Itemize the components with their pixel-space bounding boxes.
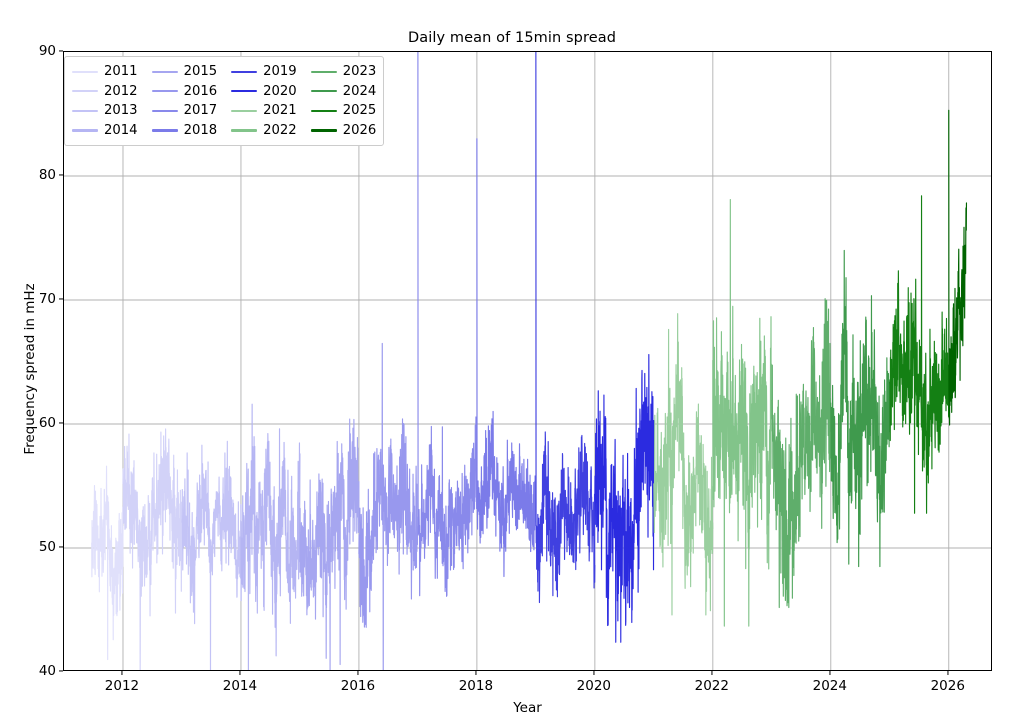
legend[interactable]: 2011201220132014201520162017201820192020… bbox=[64, 56, 384, 146]
legend-swatch-2024 bbox=[311, 90, 337, 92]
y-tick-label: 40 bbox=[0, 663, 56, 679]
y-tick-mark bbox=[59, 50, 63, 51]
legend-swatch-2021 bbox=[231, 110, 257, 112]
x-tick-mark bbox=[829, 671, 830, 675]
y-axis-label: Frequency spread in mHz bbox=[22, 209, 38, 529]
legend-label-2012: 2012 bbox=[104, 85, 138, 98]
chart-title: Daily mean of 15min spread bbox=[0, 30, 1024, 46]
series-line-2019 bbox=[536, 52, 595, 603]
legend-label-2017: 2017 bbox=[184, 104, 218, 117]
series-line-2025 bbox=[890, 196, 949, 513]
legend-entry-2026[interactable]: 2026 bbox=[311, 121, 377, 141]
legend-swatch-2019 bbox=[231, 71, 257, 73]
legend-label-2014: 2014 bbox=[104, 124, 138, 137]
legend-entry-2024[interactable]: 2024 bbox=[311, 82, 377, 102]
legend-label-2020: 2020 bbox=[263, 85, 297, 98]
legend-swatch-2015 bbox=[152, 71, 178, 73]
legend-swatch-2017 bbox=[152, 110, 178, 112]
legend-label-2025: 2025 bbox=[343, 104, 377, 117]
x-tick-mark bbox=[121, 671, 122, 675]
series-line-2026 bbox=[949, 110, 967, 425]
legend-entry-2012[interactable]: 2012 bbox=[72, 82, 138, 102]
legend-label-2015: 2015 bbox=[184, 65, 218, 78]
legend-swatch-2014 bbox=[72, 129, 98, 131]
legend-label-2023: 2023 bbox=[343, 65, 377, 78]
legend-swatch-2022 bbox=[231, 129, 257, 131]
legend-label-2024: 2024 bbox=[343, 85, 377, 98]
series-line-2022 bbox=[713, 200, 772, 627]
legend-swatch-2016 bbox=[152, 90, 178, 92]
y-tick-mark bbox=[59, 298, 63, 299]
series-line-2017 bbox=[418, 52, 477, 596]
legend-entry-2015[interactable]: 2015 bbox=[152, 62, 218, 82]
series-line-2021 bbox=[654, 314, 713, 615]
legend-entry-2019[interactable]: 2019 bbox=[231, 62, 297, 82]
x-tick-mark bbox=[593, 671, 594, 675]
x-tick-label: 2020 bbox=[577, 678, 611, 694]
legend-swatch-2026 bbox=[311, 129, 337, 131]
series-line-2011 bbox=[92, 466, 123, 659]
x-tick-mark bbox=[357, 671, 358, 675]
legend-swatch-2023 bbox=[311, 71, 337, 73]
y-tick-mark bbox=[59, 670, 63, 671]
legend-label-2022: 2022 bbox=[263, 124, 297, 137]
x-tick-label: 2018 bbox=[459, 678, 493, 694]
legend-label-2016: 2016 bbox=[184, 85, 218, 98]
figure-canvas: Daily mean of 15min spread 405060708090 … bbox=[0, 0, 1024, 721]
x-tick-label: 2012 bbox=[105, 678, 139, 694]
x-tick-mark bbox=[947, 671, 948, 675]
series-line-2014 bbox=[241, 404, 300, 671]
legend-entry-2021[interactable]: 2021 bbox=[231, 101, 297, 121]
legend-label-2018: 2018 bbox=[184, 124, 218, 137]
series-line-2024 bbox=[831, 250, 890, 566]
legend-entry-2011[interactable]: 2011 bbox=[72, 62, 138, 82]
legend-entry-2014[interactable]: 2014 bbox=[72, 121, 138, 141]
legend-entry-2016[interactable]: 2016 bbox=[152, 82, 218, 102]
legend-entry-2017[interactable]: 2017 bbox=[152, 101, 218, 121]
x-tick-mark bbox=[475, 671, 476, 675]
legend-label-2021: 2021 bbox=[263, 104, 297, 117]
legend-swatch-2018 bbox=[152, 129, 178, 131]
series-line-2016 bbox=[359, 343, 418, 671]
legend-entry-2022[interactable]: 2022 bbox=[231, 121, 297, 141]
x-tick-label: 2026 bbox=[931, 678, 965, 694]
series-line-2023 bbox=[772, 299, 831, 608]
y-tick-mark bbox=[59, 174, 63, 175]
legend-swatch-2013 bbox=[72, 110, 98, 112]
x-tick-label: 2022 bbox=[695, 678, 729, 694]
legend-label-2026: 2026 bbox=[343, 124, 377, 137]
legend-swatch-2012 bbox=[72, 90, 98, 92]
legend-entry-2025[interactable]: 2025 bbox=[311, 101, 377, 121]
legend-label-2011: 2011 bbox=[104, 65, 138, 78]
series-line-2012 bbox=[123, 429, 182, 671]
legend-entry-2018[interactable]: 2018 bbox=[152, 121, 218, 141]
legend-label-2019: 2019 bbox=[263, 65, 297, 78]
x-axis-label: Year bbox=[63, 700, 992, 716]
y-tick-label: 50 bbox=[0, 539, 56, 555]
series-line-2013 bbox=[182, 441, 241, 671]
x-tick-label: 2016 bbox=[341, 678, 375, 694]
y-tick-mark bbox=[59, 546, 63, 547]
legend-entry-2023[interactable]: 2023 bbox=[311, 62, 377, 82]
series-line-2015 bbox=[300, 419, 359, 671]
x-tick-mark bbox=[711, 671, 712, 675]
legend-swatch-2025 bbox=[311, 110, 337, 112]
legend-entry-2013[interactable]: 2013 bbox=[72, 101, 138, 121]
legend-swatch-2011 bbox=[72, 71, 98, 73]
legend-swatch-2020 bbox=[231, 90, 257, 92]
legend-label-2013: 2013 bbox=[104, 104, 138, 117]
y-tick-label: 90 bbox=[0, 43, 56, 59]
series-line-2020 bbox=[595, 355, 654, 643]
x-tick-label: 2024 bbox=[813, 678, 847, 694]
legend-entry-2020[interactable]: 2020 bbox=[231, 82, 297, 102]
x-tick-label: 2014 bbox=[223, 678, 257, 694]
y-tick-mark bbox=[59, 422, 63, 423]
y-tick-label: 80 bbox=[0, 167, 56, 183]
series-line-2018 bbox=[477, 139, 536, 577]
x-tick-mark bbox=[239, 671, 240, 675]
